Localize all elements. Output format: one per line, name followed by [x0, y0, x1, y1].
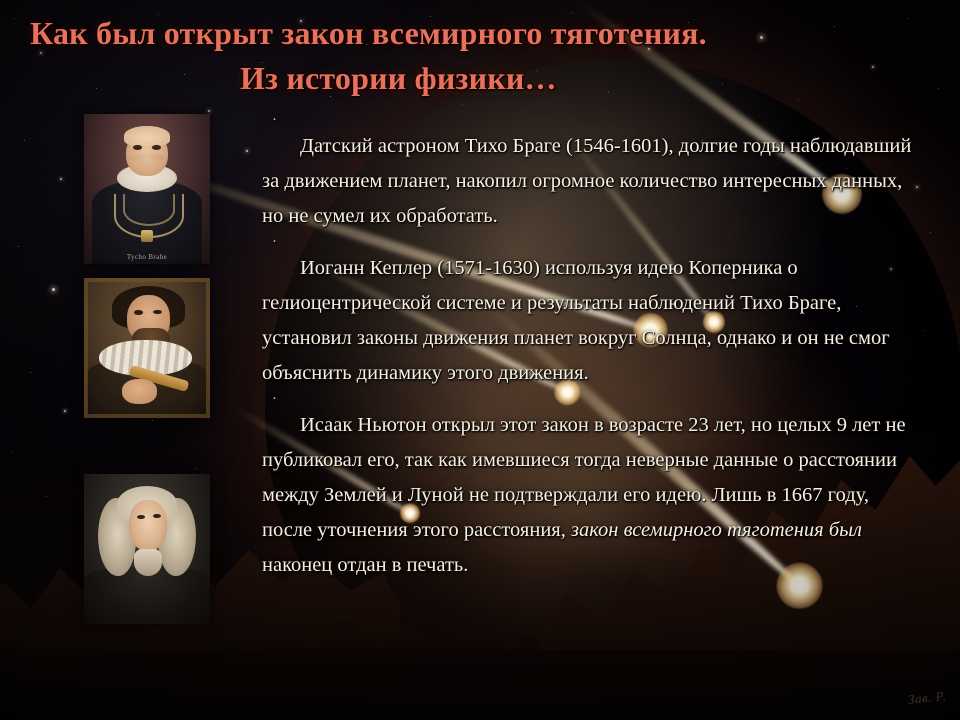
paragraph-brahe-run-1: Датский астроном Тихо Браге (1546-1601),…	[262, 135, 911, 227]
paragraph-kepler: Иоганн Кеплер (1571-1630) используя идею…	[262, 251, 922, 391]
slide-body-text: · Датский астроном Тихо Браге (1546-1601…	[262, 112, 922, 583]
paragraph-newton-run-2-italic: закон всемирного тяготения был	[571, 519, 862, 541]
ridge-foreground	[0, 650, 960, 720]
paragraph-brahe: Датский астроном Тихо Браге (1546-1601),…	[262, 129, 922, 234]
portrait-isaac-newton	[84, 474, 210, 624]
portrait-brahe-caption: Tycho Brahe	[84, 253, 210, 261]
portrait-kepler-artwork	[84, 278, 210, 418]
slide-title-line-2: Из истории физики…	[0, 57, 960, 99]
slide-title-line-1: Как был открыт закон всемирного тяготени…	[0, 12, 960, 54]
presentation-slide: Как был открыт закон всемирного тяготени…	[0, 0, 960, 720]
paragraph-kepler-run-1: Иоганн Кеплер (1571-1630) используя идею…	[262, 257, 890, 384]
portrait-brahe-artwork	[84, 114, 210, 264]
paragraph-newton: Исаак Ньютон открыл этот закон в возраст…	[262, 408, 922, 583]
portrait-johannes-kepler	[84, 278, 210, 418]
slide-title-block: Как был открыт закон всемирного тяготени…	[0, 12, 960, 99]
portrait-newton-artwork	[84, 474, 210, 624]
bullet-marker-1: ·	[262, 112, 922, 129]
bullet-marker-2: ·	[262, 234, 922, 251]
paragraph-newton-run-3: наконец отдан в печать.	[262, 554, 468, 576]
bullet-marker-3: ·	[262, 391, 922, 408]
portrait-tycho-brahe: Tycho Brahe	[84, 114, 210, 264]
